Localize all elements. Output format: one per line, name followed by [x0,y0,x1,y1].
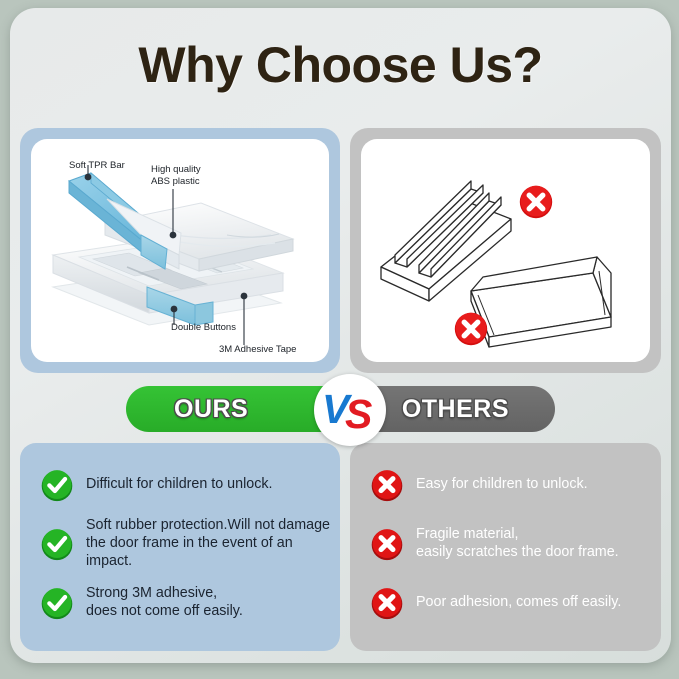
cross-icon [518,184,554,220]
our-product-image-card: Soft TPR Bar High quality ABS plastic Do… [31,139,329,362]
callout-adhesive-tape: 3M Adhesive Tape [219,344,296,356]
check-icon [40,468,74,502]
vs-letter-s: S [345,394,372,435]
content-card: Why Choose Us? [10,8,671,663]
list-item-label: Easy for children to unlock. [416,476,588,494]
list-item: Fragile material, easily scratches the d… [360,516,651,572]
competitor-product-illustration [361,139,650,360]
check-icon [40,586,74,620]
list-item: Easy for children to unlock. [360,457,651,513]
callout-double-buttons: Double Buttons [171,322,236,334]
list-item-label: Soft rubber protection.Will not damage t… [86,517,330,571]
list-item-label: Difficult for children to unlock. [86,476,272,494]
competitor-product-panel [350,128,661,373]
list-item: Soft rubber protection.Will not damage t… [30,516,330,572]
list-item: Strong 3M adhesive, does not come off ea… [30,575,330,631]
callout-abs-plastic: High quality ABS plastic [151,164,201,187]
others-label: OTHERS [402,395,509,424]
check-icon [40,527,74,561]
infographic-frame: Why Choose Us? [0,0,679,679]
page-title: Why Choose Us? [10,36,671,94]
ours-label: OURS [174,395,248,424]
vs-badge: V S [314,374,386,446]
list-item: Difficult for children to unlock. [30,457,330,513]
cross-icon [453,311,489,347]
ours-feature-list: Difficult for children to unlock. Soft r… [20,443,340,651]
cross-icon [370,527,404,561]
our-product-panel: Soft TPR Bar High quality ABS plastic Do… [20,128,340,373]
list-item-label: Strong 3M adhesive, does not come off ea… [86,585,243,621]
others-feature-list: Easy for children to unlock. Fragile mat… [350,443,661,651]
cross-icon [370,468,404,502]
callout-soft-tpr-bar: Soft TPR Bar [69,160,125,172]
competitor-image-card [361,139,650,362]
cross-icon [370,586,404,620]
list-item: Poor adhesion, comes off easily. [360,575,651,631]
list-item-label: Poor adhesion, comes off easily. [416,594,621,612]
list-item-label: Fragile material, easily scratches the d… [416,526,619,562]
